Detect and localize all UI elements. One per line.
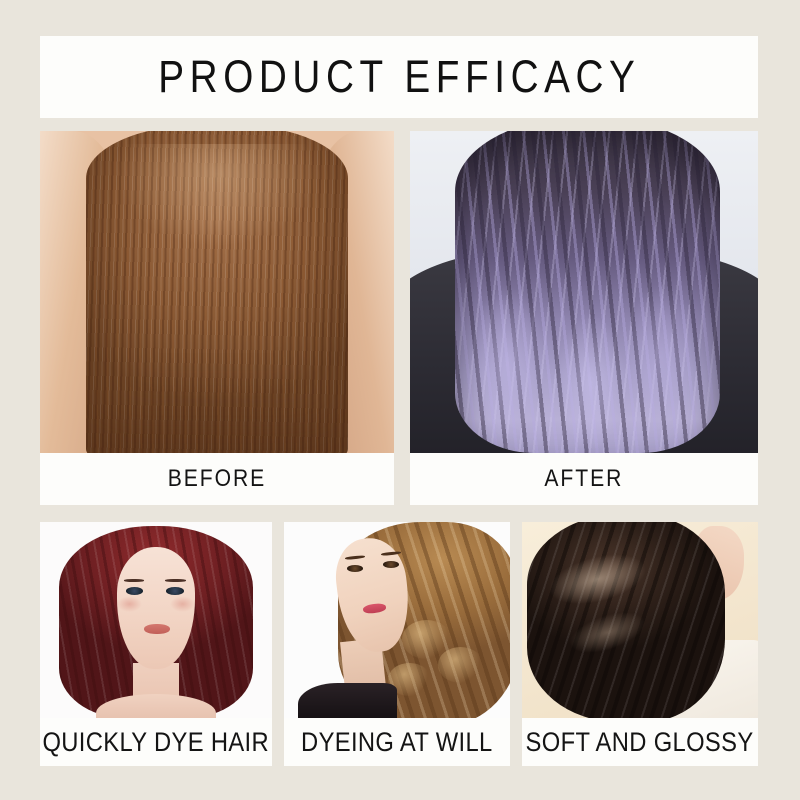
- before-caption-bar: BEFORE: [40, 453, 394, 505]
- after-photo: [410, 131, 758, 453]
- lips: [144, 624, 170, 634]
- curl-highlight-b: [438, 647, 483, 682]
- dyeing-at-will-photo: [284, 522, 510, 718]
- after-caption: AFTER: [545, 465, 624, 493]
- eyebrow-right: [165, 579, 186, 582]
- comparison-card-after: AFTER: [410, 131, 758, 505]
- quickly-dye-hair-caption-bar: QUICKLY DYE HAIR: [40, 718, 272, 766]
- benefit-card-quickly-dye-hair: QUICKLY DYE HAIR: [40, 522, 272, 766]
- blush-left: [117, 596, 143, 612]
- soft-and-glossy-photo: [522, 522, 758, 718]
- quickly-dye-hair-caption: QUICKLY DYE HAIR: [43, 727, 270, 758]
- quickly-dye-hair-photo: [40, 522, 272, 718]
- hair-wave-highlights: [410, 131, 758, 453]
- benefit-card-dyeing-at-will: DYEING AT WILL: [284, 522, 510, 766]
- product-efficacy-poster: PRODUCT EFFICACY BEFORE AFTER: [0, 0, 800, 800]
- black-lace-top: [298, 683, 397, 718]
- page-title: PRODUCT EFFICACY: [158, 51, 640, 103]
- before-caption: BEFORE: [168, 465, 266, 493]
- eye-right: [166, 587, 183, 595]
- eyebrow-left: [124, 579, 145, 582]
- benefit-card-soft-and-glossy: SOFT AND GLOSSY: [522, 522, 758, 766]
- before-photo: [40, 131, 394, 453]
- soft-and-glossy-caption: SOFT AND GLOSSY: [526, 727, 754, 758]
- comparison-card-before: BEFORE: [40, 131, 394, 505]
- after-caption-bar: AFTER: [410, 453, 758, 505]
- page-title-bar: PRODUCT EFFICACY: [40, 36, 758, 118]
- eye-left: [126, 587, 143, 595]
- dyeing-at-will-caption-bar: DYEING AT WILL: [284, 718, 510, 766]
- soft-and-glossy-caption-bar: SOFT AND GLOSSY: [522, 718, 758, 766]
- hair-sheen: [97, 144, 338, 292]
- dyeing-at-will-caption: DYEING AT WILL: [301, 727, 493, 758]
